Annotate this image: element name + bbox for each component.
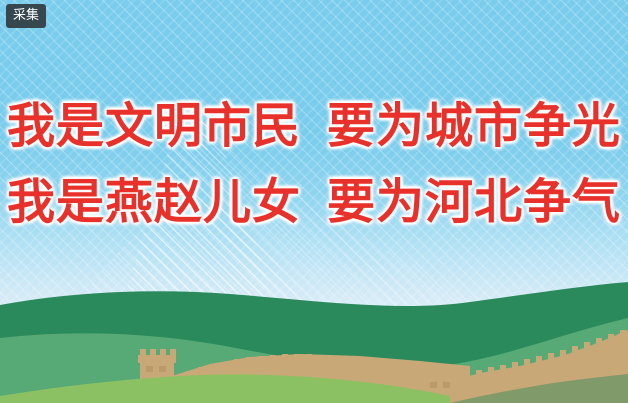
capture-button[interactable]: 采集 (6, 4, 46, 28)
poster-canvas: 我是文明市民要为城市争光 我是燕赵儿女要为河北争气 采集 (0, 0, 628, 403)
hill-landscape-illustration (0, 0, 628, 403)
